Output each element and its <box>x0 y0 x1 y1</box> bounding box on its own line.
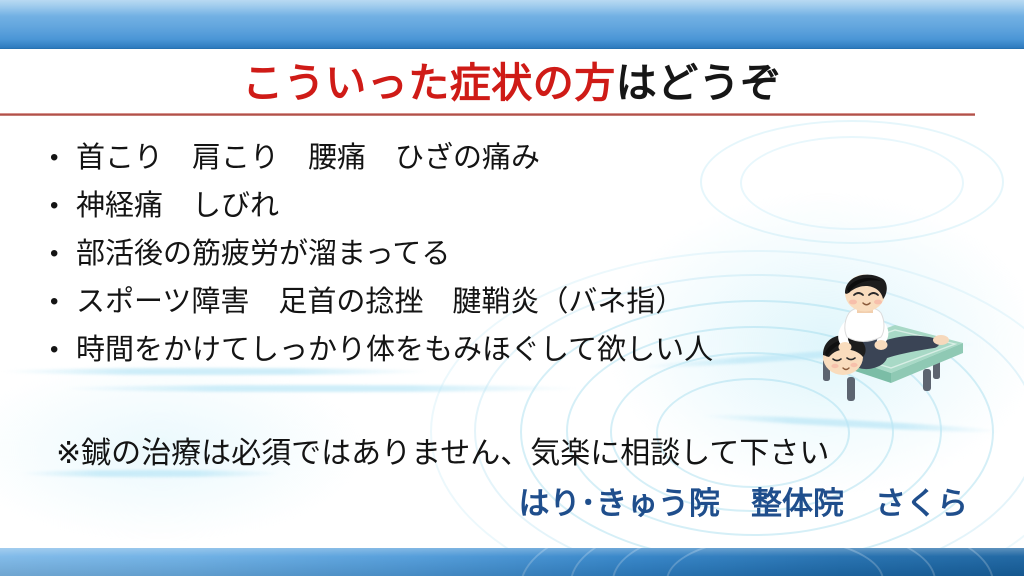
bullet-dot-icon: • <box>50 326 76 374</box>
list-item: • 時間をかけてしっかり体をもみほぐして欲しい人 <box>50 326 840 374</box>
list-item: • 神経痛 しびれ <box>50 182 840 230</box>
page-title-rest: はどうぞ <box>616 60 782 106</box>
title-divider-rule <box>0 113 975 116</box>
page-title: こういった症状の方はどうぞ <box>242 63 782 104</box>
list-item-label: スポーツ障害 足首の捻挫 腱鞘炎（バネ指） <box>76 278 840 326</box>
bottom-banner <box>0 548 1024 576</box>
bottom-banner-shade <box>0 548 1024 576</box>
list-item-label: 部活後の筋疲労が溜まってる <box>76 230 840 278</box>
clinic-signature: はり･きゅう院 整体院 さくら <box>0 482 968 526</box>
list-item: • 部活後の筋疲労が溜まってる <box>50 230 840 278</box>
title-area: こういった症状の方はどうぞ <box>0 49 1024 117</box>
list-item-label: 神経痛 しびれ <box>76 182 840 230</box>
list-item: • スポーツ障害 足首の捻挫 腱鞘炎（バネ指） <box>50 278 840 326</box>
symptom-bullet-list: • 首こり 肩こり 腰痛 ひざの痛み • 神経痛 しびれ • 部活後の筋疲労が溜… <box>50 134 840 374</box>
bullet-dot-icon: • <box>50 134 76 182</box>
list-item: • 首こり 肩こり 腰痛 ひざの痛み <box>50 134 840 182</box>
page-title-highlight: こういった症状の方 <box>242 60 616 106</box>
therapist-figure <box>838 275 888 353</box>
top-banner-glow <box>0 0 1024 16</box>
bullet-dot-icon: • <box>50 230 76 278</box>
bullet-dot-icon: • <box>50 278 76 326</box>
bullet-dot-icon: • <box>50 182 76 230</box>
list-item-label: 時間をかけてしっかり体をもみほぐして欲しい人 <box>76 326 840 374</box>
note-text: ※鍼の治療は必須ではありません、気楽に相談して下さい <box>56 432 829 476</box>
list-item-label: 首こり 肩こり 腰痛 ひざの痛み <box>76 134 840 182</box>
slide-canvas: こういった症状の方はどうぞ • 首こり 肩こり 腰痛 ひざの痛み • 神経痛 し… <box>0 0 1024 576</box>
top-banner <box>0 0 1024 49</box>
water-streak <box>60 385 580 392</box>
